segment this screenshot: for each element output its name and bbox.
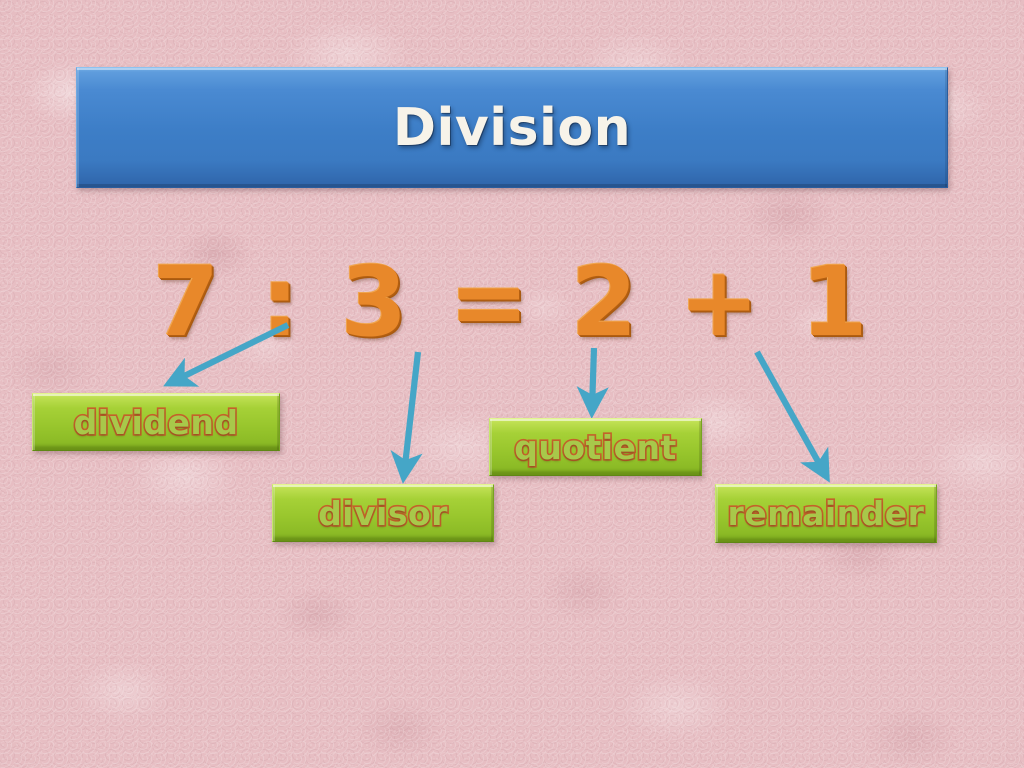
label-box-remainder: remainder — [715, 484, 937, 543]
title-bar: Division — [76, 67, 948, 188]
label-text-remainder: remainder — [728, 497, 925, 530]
label-text-dividend: dividend — [74, 406, 239, 439]
label-text-quotient: quotient — [514, 431, 677, 464]
label-box-dividend: dividend — [32, 393, 280, 451]
label-box-quotient: quotient — [489, 418, 702, 476]
page-title: Division — [393, 102, 631, 154]
division-equation: 7 : 3 = 2 + 1 — [0, 252, 1024, 353]
label-text-divisor: divisor — [318, 497, 448, 530]
label-box-divisor: divisor — [272, 484, 494, 542]
slide-canvas: Division 7 : 3 = 2 + 1 dividend di — [0, 0, 1024, 768]
